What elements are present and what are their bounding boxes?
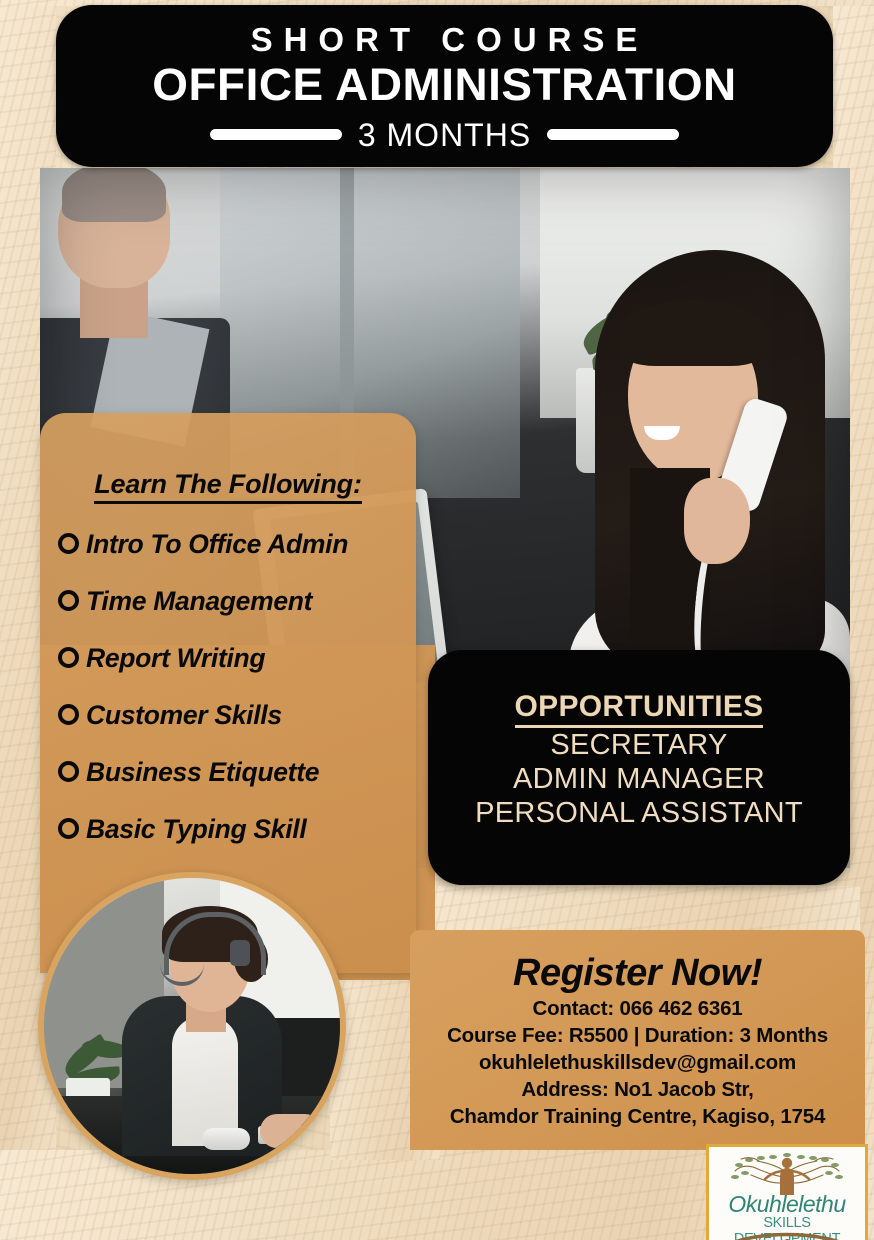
mid-gap-texture bbox=[390, 886, 860, 932]
bullet-icon bbox=[58, 647, 79, 668]
address-line-1: Address: No1 Jacob Str, bbox=[410, 1076, 865, 1103]
course-kicker: SHORT COURSE bbox=[251, 23, 649, 56]
skill-label: Time Management bbox=[86, 586, 312, 617]
header-banner: SHORT COURSE OFFICE ADMINISTRATION 3 MON… bbox=[56, 5, 833, 167]
skill-label: Basic Typing Skill bbox=[86, 814, 306, 845]
tree-icon bbox=[709, 1149, 865, 1195]
skill-label: Customer Skills bbox=[86, 700, 282, 731]
logo-name: Okuhlelethu bbox=[709, 1191, 865, 1218]
email-line[interactable]: okuhlelethuskillsdev@gmail.com bbox=[410, 1049, 865, 1076]
skill-label: Report Writing bbox=[86, 643, 265, 674]
circle-hand bbox=[260, 1114, 322, 1148]
register-title: Register Now! bbox=[410, 952, 865, 995]
opportunities-title-wrap: OPPORTUNITIES bbox=[428, 650, 850, 728]
opportunities-box: OPPORTUNITIES SECRETARY ADMIN MANAGER PE… bbox=[428, 650, 850, 885]
skills-heading: Learn The Following: bbox=[40, 413, 416, 500]
headset-earcup bbox=[230, 940, 250, 966]
opportunities-title: OPPORTUNITIES bbox=[515, 690, 764, 728]
bullet-icon bbox=[58, 761, 79, 782]
address-line-2: Chamdor Training Centre, Kagiso, 1754 bbox=[410, 1103, 865, 1130]
skill-label: Business Etiquette bbox=[86, 757, 319, 788]
list-item: Customer Skills bbox=[58, 687, 458, 744]
fee-duration-line: Course Fee: R5500 | Duration: 3 Months bbox=[410, 1022, 865, 1049]
skills-heading-text: Learn The Following: bbox=[94, 469, 362, 504]
list-item: Report Writing bbox=[58, 630, 458, 687]
poster-root: SHORT COURSE OFFICE ADMINISTRATION 3 MON… bbox=[0, 0, 874, 1240]
human-figure-icon bbox=[765, 1158, 809, 1195]
contact-line[interactable]: Contact: 066 462 6361 bbox=[410, 995, 865, 1022]
list-item: Business Etiquette bbox=[58, 744, 458, 801]
bullet-icon bbox=[58, 704, 79, 725]
call-centre-photo bbox=[38, 872, 346, 1180]
right-dash-icon bbox=[547, 129, 679, 140]
opportunity-role: PERSONAL ASSISTANT bbox=[428, 796, 850, 830]
circle-blouse bbox=[172, 1016, 238, 1146]
skill-label: Intro To Office Admin bbox=[86, 529, 348, 560]
register-panel: Register Now! Contact: 066 462 6361 Cour… bbox=[410, 930, 865, 1150]
opportunity-role: SECRETARY bbox=[428, 728, 850, 762]
bullet-icon bbox=[58, 590, 79, 611]
logo-arc-icon bbox=[709, 1231, 865, 1240]
list-item: Intro To Office Admin bbox=[58, 516, 458, 573]
list-item: Basic Typing Skill bbox=[58, 801, 458, 858]
bullet-icon bbox=[58, 533, 79, 554]
duration-row: 3 MONTHS bbox=[210, 119, 679, 151]
skills-list: Intro To Office Admin Time Management Re… bbox=[58, 516, 458, 858]
left-dash-icon bbox=[210, 129, 342, 140]
bullet-icon bbox=[58, 818, 79, 839]
circle-mouse bbox=[202, 1128, 250, 1150]
opportunity-role: ADMIN MANAGER bbox=[428, 762, 850, 796]
duration-label: 3 MONTHS bbox=[358, 119, 531, 151]
page-title: OFFICE ADMINISTRATION bbox=[152, 61, 736, 110]
company-logo: Okuhlelethu SKILLS DEVELOPMENT bbox=[706, 1144, 868, 1240]
list-item: Time Management bbox=[58, 573, 458, 630]
